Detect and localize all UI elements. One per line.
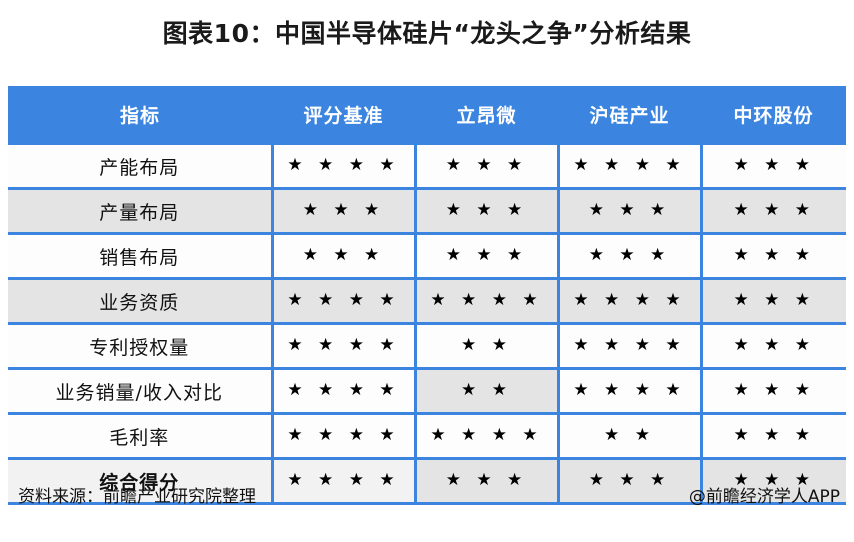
star-rating: ★ ★ ★ [589, 247, 671, 264]
row-metric-cell: 销售布局 [8, 234, 272, 279]
star-rating: ★ ★ [604, 427, 655, 444]
star-rating: ★ ★ [461, 382, 512, 399]
rating-cell-huguicy: ★ ★ ★ ★ [558, 369, 701, 414]
metric-label: 业务销量/收入对比 [56, 382, 223, 404]
table-header-row: 指标 评分基准 立昂微 沪硅产业 中环股份 [8, 86, 846, 144]
rating-cell-liangwei: ★ ★ [415, 324, 558, 369]
star-rating: ★ ★ ★ ★ [287, 157, 399, 174]
star-rating: ★ ★ ★ [446, 202, 528, 219]
table-row: 专利授权量 ★ ★ ★ ★ ★ ★ ★ ★ ★ ★ ★ ★ ★ [8, 324, 846, 369]
metric-label: 产量布局 [99, 202, 179, 224]
metric-label: 毛利率 [109, 427, 169, 449]
rating-cell-zhonghuan: ★ ★ ★ [701, 369, 846, 414]
column-header-huguicy: 沪硅产业 [558, 86, 701, 144]
row-metric-cell: 业务销量/收入对比 [8, 369, 272, 414]
column-header-baseline: 评分基准 [272, 86, 415, 144]
star-rating: ★ ★ ★ ★ [573, 157, 685, 174]
table-row: 业务销量/收入对比 ★ ★ ★ ★ ★ ★ ★ ★ ★ ★ ★ ★ ★ [8, 369, 846, 414]
table-row: 毛利率 ★ ★ ★ ★ ★ ★ ★ ★ ★ ★ ★ ★ ★ [8, 414, 846, 459]
table-row: 销售布局 ★ ★ ★ ★ ★ ★ ★ ★ ★ ★ ★ ★ [8, 234, 846, 279]
rating-cell-zhonghuan: ★ ★ ★ [701, 414, 846, 459]
star-rating: ★ ★ ★ [733, 292, 815, 309]
rating-cell-liangwei: ★ ★ ★ [415, 144, 558, 189]
table-row: 产量布局 ★ ★ ★ ★ ★ ★ ★ ★ ★ ★ ★ ★ [8, 189, 846, 234]
metric-label: 销售布局 [99, 247, 179, 269]
row-metric-cell: 产量布局 [8, 189, 272, 234]
row-metric-cell: 毛利率 [8, 414, 272, 459]
rating-cell-zhonghuan: ★ ★ ★ [701, 189, 846, 234]
star-rating: ★ ★ [461, 337, 512, 354]
star-rating: ★ ★ ★ [733, 427, 815, 444]
star-rating: ★ ★ ★ [733, 247, 815, 264]
rating-cell-huguicy: ★ ★ [558, 414, 701, 459]
source-note: 资料来源：前瞻产业研究院整理 [18, 482, 256, 507]
rating-cell-huguicy: ★ ★ ★ ★ [558, 279, 701, 324]
app-credit: @前瞻经济学人APP [689, 482, 840, 507]
star-rating: ★ ★ ★ [303, 247, 385, 264]
rating-cell-liangwei: ★ ★ ★ [415, 189, 558, 234]
rating-cell-zhonghuan: ★ ★ ★ [701, 279, 846, 324]
star-rating: ★ ★ ★ [589, 202, 671, 219]
row-metric-cell: 产能布局 [8, 144, 272, 189]
table-row: 产能布局 ★ ★ ★ ★ ★ ★ ★ ★ ★ ★ ★ ★ ★ ★ [8, 144, 846, 189]
star-rating: ★ ★ ★ ★ [287, 292, 399, 309]
star-rating: ★ ★ ★ ★ [573, 292, 685, 309]
rating-cell-zhonghuan: ★ ★ ★ [701, 324, 846, 369]
table-row: 业务资质 ★ ★ ★ ★ ★ ★ ★ ★ ★ ★ ★ ★ ★ ★ ★ [8, 279, 846, 324]
star-rating: ★ ★ ★ ★ [573, 337, 685, 354]
rating-cell-zhonghuan: ★ ★ ★ [701, 234, 846, 279]
rating-cell-zhonghuan: ★ ★ ★ [701, 144, 846, 189]
star-rating: ★ ★ ★ [733, 157, 815, 174]
metric-label: 产能布局 [99, 157, 179, 179]
column-header-liangwei: 立昂微 [415, 86, 558, 144]
rating-cell-baseline: ★ ★ ★ ★ [272, 324, 415, 369]
star-rating: ★ ★ ★ [303, 202, 385, 219]
star-rating: ★ ★ ★ [733, 337, 815, 354]
star-rating: ★ ★ ★ ★ [287, 382, 399, 399]
rating-cell-baseline: ★ ★ ★ [272, 234, 415, 279]
rating-cell-huguicy: ★ ★ ★ ★ [558, 324, 701, 369]
star-rating: ★ ★ ★ ★ [573, 382, 685, 399]
star-rating: ★ ★ ★ [733, 202, 815, 219]
rating-cell-baseline: ★ ★ ★ ★ [272, 369, 415, 414]
metric-label: 专利授权量 [89, 337, 189, 359]
rating-cell-baseline: ★ ★ ★ ★ [272, 414, 415, 459]
rating-cell-huguicy: ★ ★ ★ [558, 234, 701, 279]
metric-label: 业务资质 [99, 292, 179, 314]
rating-cell-huguicy: ★ ★ ★ ★ [558, 144, 701, 189]
page-title: 图表10：中国半导体硅片“龙头之争”分析结果 [163, 14, 692, 50]
rating-cell-baseline: ★ ★ ★ ★ [272, 279, 415, 324]
column-header-zhonghuan: 中环股份 [701, 86, 846, 144]
star-rating: ★ ★ ★ ★ [287, 337, 399, 354]
rating-cell-baseline: ★ ★ ★ ★ [272, 144, 415, 189]
rating-cell-liangwei: ★ ★ ★ ★ [415, 414, 558, 459]
rating-cell-huguicy: ★ ★ ★ [558, 189, 701, 234]
rating-cell-liangwei: ★ ★ ★ [415, 234, 558, 279]
footer: 资料来源：前瞻产业研究院整理 @前瞻经济学人APP [0, 482, 854, 512]
rating-cell-liangwei: ★ ★ ★ ★ [415, 279, 558, 324]
row-metric-cell: 专利授权量 [8, 324, 272, 369]
star-rating: ★ ★ ★ ★ [430, 292, 542, 309]
row-metric-cell: 业务资质 [8, 279, 272, 324]
column-header-metric: 指标 [8, 86, 272, 144]
rating-cell-baseline: ★ ★ ★ [272, 189, 415, 234]
star-rating: ★ ★ ★ ★ [430, 427, 542, 444]
star-rating: ★ ★ ★ ★ [287, 427, 399, 444]
star-rating: ★ ★ ★ [446, 247, 528, 264]
star-rating: ★ ★ ★ [446, 157, 528, 174]
title-bar: 图表10：中国半导体硅片“龙头之争”分析结果 [0, 14, 854, 50]
rating-cell-liangwei: ★ ★ [415, 369, 558, 414]
rating-table: 指标 评分基准 立昂微 沪硅产业 中环股份 产能布局 ★ ★ ★ ★ ★ ★ ★… [8, 86, 846, 505]
star-rating: ★ ★ ★ [733, 382, 815, 399]
